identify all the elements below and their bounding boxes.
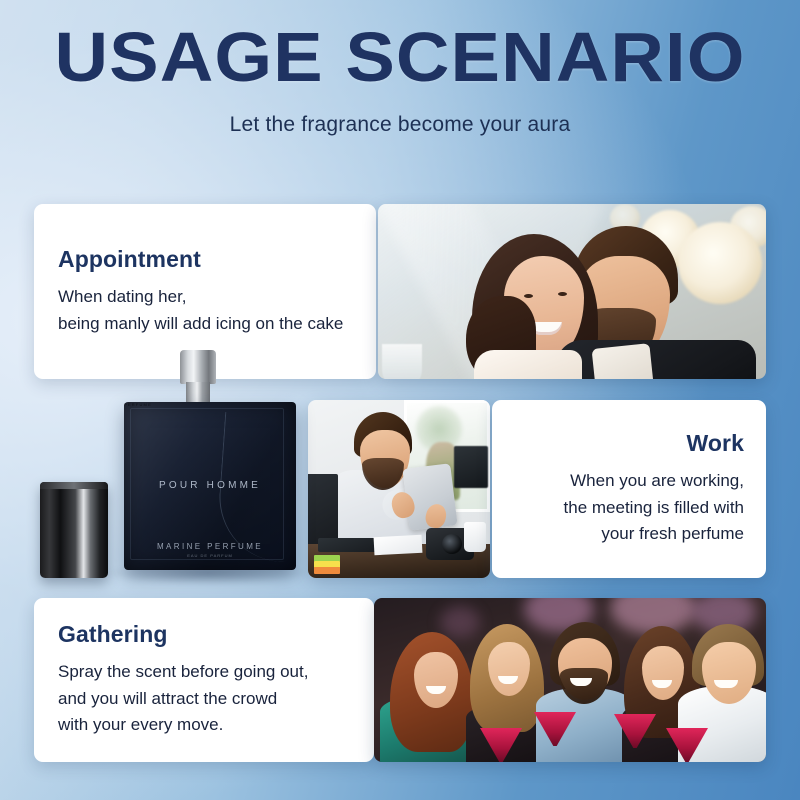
perfume-product-image: PERFUME POUR HOMME MARINE PERFUME EAU DE… xyxy=(0,330,300,610)
card-body-work: When you are working, the meeting is fil… xyxy=(510,468,744,547)
page-title: USAGE SCENARIO xyxy=(0,22,800,93)
woman-dress xyxy=(474,350,582,379)
wine-glass xyxy=(382,344,422,379)
card-title-work: Work xyxy=(510,430,744,457)
bottle-cap xyxy=(40,482,108,578)
photo-canvas xyxy=(378,204,766,379)
party-group-photo xyxy=(374,598,766,762)
card-title-gathering: Gathering xyxy=(58,621,350,648)
card-body-appointment: When dating her, being manly will add ic… xyxy=(58,284,350,337)
bottle-label-sub: EAU DE PARFUM xyxy=(124,553,296,558)
poster-header: USAGE SCENARIO Let the fragrance become … xyxy=(0,0,800,137)
bottle-label-marine-perfume: MARINE PERFUME xyxy=(124,542,296,551)
paper-sheet xyxy=(374,535,423,555)
usage-scenario-poster: USAGE SCENARIO Let the fragrance become … xyxy=(0,0,800,800)
woman-eye xyxy=(558,292,567,296)
background-monitor xyxy=(454,446,488,488)
coffee-cup xyxy=(464,522,486,552)
photo-canvas xyxy=(374,598,766,762)
bokeh-light xyxy=(678,222,762,304)
card-line: your fresh perfume xyxy=(510,521,744,547)
man-suit xyxy=(556,340,756,379)
couple-dating-photo xyxy=(378,204,766,379)
party-light xyxy=(440,606,480,638)
card-body-gathering: Spray the scent before going out, and yo… xyxy=(58,659,350,738)
card-line: When you are working, xyxy=(510,468,744,494)
bottle-label-pre: PERFUME xyxy=(124,402,296,407)
sticky-note xyxy=(314,567,340,574)
card-title-appointment: Appointment xyxy=(58,246,350,273)
card-line: When dating her, xyxy=(58,284,350,310)
card-line: and you will attract the crowd xyxy=(58,686,350,712)
card-line: Spray the scent before going out, xyxy=(58,659,350,685)
scenario-card-gathering: Gathering Spray the scent before going o… xyxy=(34,598,374,762)
woman-eye xyxy=(524,294,533,298)
man-working-photo xyxy=(308,400,490,578)
bottle-label-pour-homme: POUR HOMME xyxy=(124,480,296,491)
photo-canvas xyxy=(308,400,490,578)
card-line: the meeting is filled with xyxy=(510,495,744,521)
man-shirt xyxy=(592,343,655,379)
spray-pump xyxy=(180,350,216,384)
bottle-body: PERFUME POUR HOMME MARINE PERFUME EAU DE… xyxy=(124,402,296,570)
scenario-card-work: Work When you are working, the meeting i… xyxy=(492,400,766,578)
card-line: with your every move. xyxy=(58,712,350,738)
page-subtitle: Let the fragrance become your aura xyxy=(0,113,800,137)
